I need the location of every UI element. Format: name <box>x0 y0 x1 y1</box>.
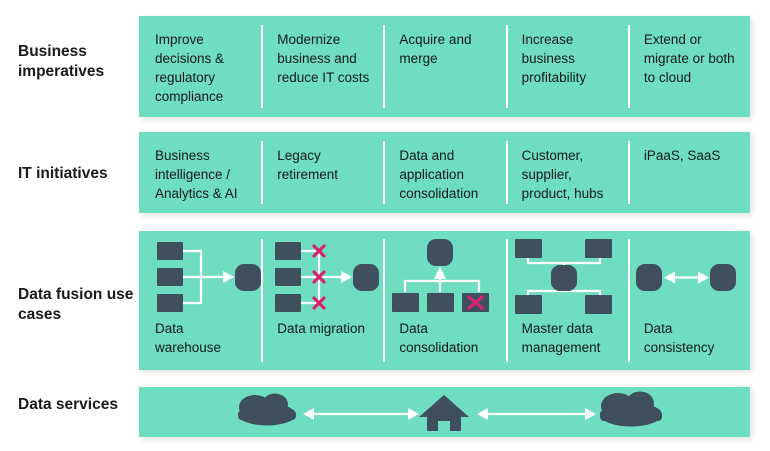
cell-text: Business intelligence / Analytics & AI <box>155 146 247 203</box>
database-cylinder-icon <box>636 264 662 291</box>
application-square-icon <box>585 239 612 258</box>
cell-text: Improve decisions & regulatory complianc… <box>155 30 247 107</box>
use-case-data-warehouse[interactable]: Data warehouse <box>139 231 261 370</box>
use-case-label: Data migration <box>277 319 375 338</box>
diagram-master-data-management <box>506 237 628 317</box>
diagram-data-services <box>139 387 750 437</box>
application-square-icon <box>585 295 612 314</box>
database-cylinder-icon <box>427 239 453 266</box>
row-panel-data-fusion-use-cases: Data warehouse <box>139 231 750 370</box>
cell-it-initiatives-3[interactable]: Data and application consolidation <box>383 132 505 213</box>
cloud-icon <box>600 392 662 427</box>
cell-business-imperatives-4[interactable]: Increase business profitability <box>506 16 628 117</box>
cell-it-initiatives-5[interactable]: iPaaS, SaaS <box>628 132 750 213</box>
application-square-icon <box>427 293 454 312</box>
row-label-it-initiatives: IT initiatives <box>18 164 138 184</box>
application-square-icon <box>515 239 542 258</box>
cell-text: Customer, supplier, product, hubs <box>522 146 614 203</box>
on-premises-house-icon <box>419 395 469 432</box>
application-square-icon <box>157 268 183 286</box>
use-case-label: Data consolidation <box>399 319 497 357</box>
application-square-icon <box>515 295 542 314</box>
use-case-label: Data consistency <box>644 319 742 357</box>
application-square-icon <box>157 294 183 312</box>
bidirectional-arrow-icon <box>303 408 419 420</box>
cell-text: Increase business profitability <box>522 30 614 87</box>
use-case-master-data-management[interactable]: Master data management <box>506 231 628 370</box>
application-square-icon <box>275 294 301 312</box>
cell-it-initiatives-4[interactable]: Customer, supplier, product, hubs <box>506 132 628 213</box>
diagram-data-consistency <box>628 237 750 317</box>
cell-it-initiatives-2[interactable]: Legacy retirement <box>261 132 383 213</box>
cell-text: Data and application consolidation <box>399 146 491 203</box>
cell-business-imperatives-3[interactable]: Acquire and merge <box>383 16 505 117</box>
database-cylinder-icon <box>710 264 736 291</box>
diagram-board: Business imperatives Improve decisions &… <box>0 0 770 451</box>
use-case-data-consolidation[interactable]: Data consolidation <box>383 231 505 370</box>
diagram-data-consolidation <box>383 237 505 317</box>
database-cylinder-icon <box>551 265 577 291</box>
application-square-icon <box>157 242 183 260</box>
use-case-label: Master data management <box>522 319 620 357</box>
cell-business-imperatives-2[interactable]: Modernize business and reduce IT costs <box>261 16 383 117</box>
row-label-data-fusion-use-cases: Data fusion use cases <box>18 285 138 325</box>
application-square-icon <box>275 268 301 286</box>
cell-text: Acquire and merge <box>399 30 491 68</box>
cell-business-imperatives-5[interactable]: Extend or migrate or both to cloud <box>628 16 750 117</box>
row-panel-data-services <box>139 387 750 437</box>
row-panel-it-initiatives: Business intelligence / Analytics & AI L… <box>139 132 750 213</box>
cell-text: Extend or migrate or both to cloud <box>644 30 736 87</box>
cell-text: Legacy retirement <box>277 146 369 184</box>
use-case-label: Data warehouse <box>155 319 253 357</box>
cell-text: iPaaS, SaaS <box>644 146 736 165</box>
diagram-data-migration <box>261 237 383 317</box>
database-cylinder-icon <box>235 264 261 291</box>
cell-text: Modernize business and reduce IT costs <box>277 30 369 87</box>
bidirectional-arrow-icon <box>664 272 709 284</box>
application-square-icon <box>275 242 301 260</box>
cell-it-initiatives-1[interactable]: Business intelligence / Analytics & AI <box>139 132 261 213</box>
database-cylinder-icon <box>353 264 379 291</box>
row-panel-business-imperatives: Improve decisions & regulatory complianc… <box>139 16 750 117</box>
use-case-data-migration[interactable]: Data migration <box>261 231 383 370</box>
cell-business-imperatives-1[interactable]: Improve decisions & regulatory complianc… <box>139 16 261 117</box>
cloud-icon <box>238 394 296 426</box>
arrow-head-icon <box>341 271 352 283</box>
row-label-business-imperatives: Business imperatives <box>18 42 138 82</box>
row-label-data-services: Data services <box>18 395 138 415</box>
diagram-data-warehouse <box>139 237 261 317</box>
arrow-head-icon <box>434 267 446 279</box>
arrow-head-icon <box>223 271 234 283</box>
use-case-data-consistency[interactable]: Data consistency <box>628 231 750 370</box>
bidirectional-arrow-icon <box>477 408 596 420</box>
application-square-icon <box>392 293 419 312</box>
